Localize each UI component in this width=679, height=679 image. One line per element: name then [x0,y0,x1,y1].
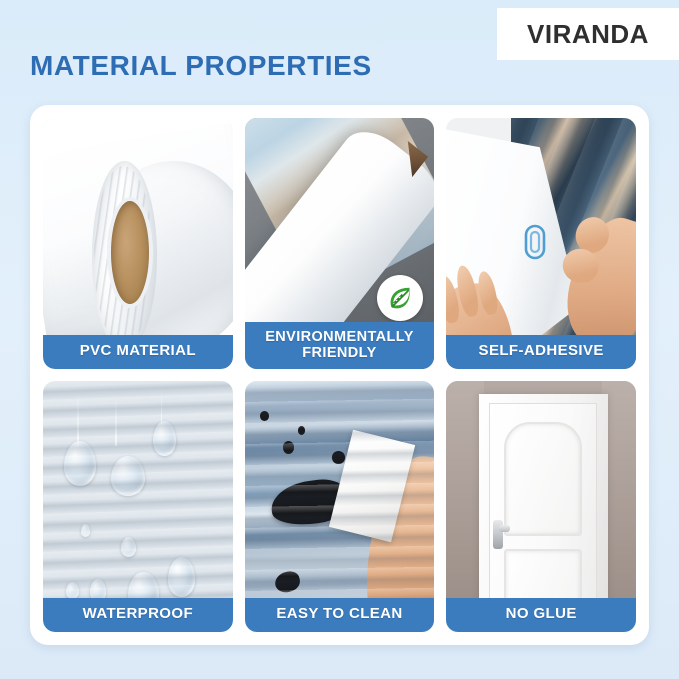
feature-cell-pvc-material[interactable]: PVC MATERIAL [43,118,233,369]
water-droplet [66,582,79,600]
feature-cell-easy-to-clean[interactable]: EASY TO CLEAN [245,381,435,632]
pvc-roll-photo [43,118,233,369]
water-droplet [64,441,96,486]
waterproof-photo [43,381,233,632]
feature-cell-no-glue[interactable]: NO GLUE [446,381,636,632]
feature-label-self-adhesive: SELF-ADHESIVE [446,335,636,369]
feature-grid: PVC MATERIAL ENV [43,118,636,632]
feature-label-pvc-material: PVC MATERIAL [43,335,233,369]
feature-cell-waterproof[interactable]: WATERPROOF [43,381,233,632]
easy-to-clean-photo [245,381,435,632]
stain-mark [283,441,294,454]
drop-trail [115,396,117,446]
brand-name: VIRANDA [527,19,649,50]
brand-logo: VIRANDA [497,8,679,60]
stain-mark [273,569,302,594]
water-droplet [121,537,136,557]
feature-label-easy-to-clean: EASY TO CLEAN [245,598,435,632]
water-droplet [153,421,176,456]
door-frame [479,394,608,632]
door-handle [493,520,503,549]
header-bar: MATERIAL PROPERTIES VIRANDA [0,0,679,105]
no-glue-door-photo [446,381,636,632]
stain-mark [332,451,345,464]
water-droplet [81,524,90,537]
drop-trail [161,389,163,424]
page-title: MATERIAL PROPERTIES [30,50,372,82]
feature-label-no-glue: NO GLUE [446,598,636,632]
leaf-icon [377,275,423,321]
feature-card: PVC MATERIAL ENV [30,105,649,645]
feature-cell-environmentally-friendly[interactable]: ENVIRONMENTALLY FRIENDLY [245,118,435,369]
feature-label-waterproof: WATERPROOF [43,598,233,632]
self-adhesive-photo [446,118,636,369]
feature-label-environmentally-friendly: ENVIRONMENTALLY FRIENDLY [245,322,435,369]
door-panel-top [504,422,583,535]
roll-cardboard-core [111,201,149,304]
stain-mark [269,476,354,529]
stain-mark [298,426,306,435]
feature-cell-self-adhesive[interactable]: SELF-ADHESIVE [446,118,636,369]
stain-mark [260,411,269,421]
water-droplet [111,456,145,496]
water-droplet [168,557,195,597]
sponge-shape [328,430,415,543]
drop-trail [77,391,79,446]
paperclip-icon [522,223,548,261]
